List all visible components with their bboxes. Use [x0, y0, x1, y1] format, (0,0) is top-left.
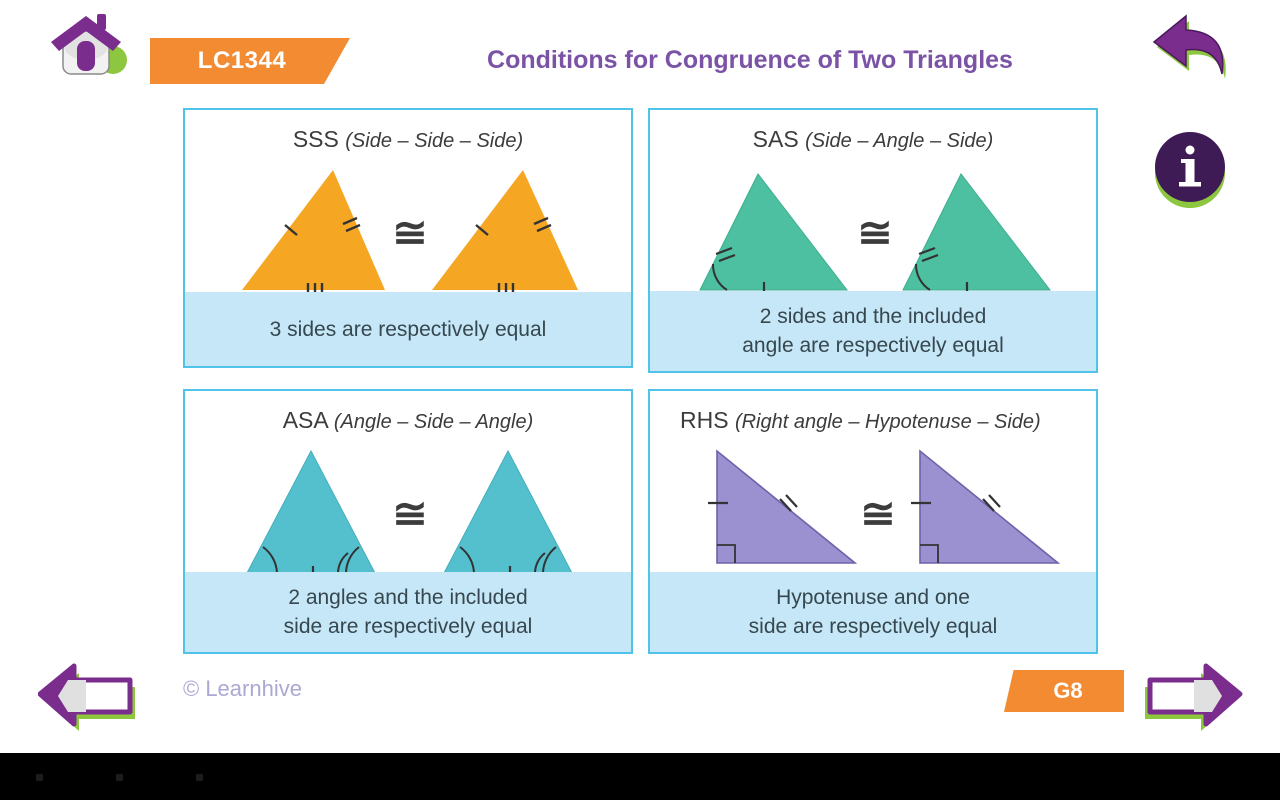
card-caption-asa: 2 angles and the included side are respe… — [185, 572, 631, 652]
card-title-rhs: RHS (Right angle – Hypotenuse – Side) — [650, 407, 1126, 434]
grade-label: G8 — [1053, 678, 1082, 704]
nav-back-icon[interactable] — [36, 774, 43, 781]
home-icon — [45, 12, 135, 82]
triangle-left-asa — [247, 451, 375, 581]
lesson-code-label: LC1344 — [198, 47, 286, 75]
congruence-card-rhs: RHS (Right angle – Hypotenuse – Side) ≅ … — [648, 389, 1098, 654]
figure-asa: ≅ — [185, 433, 631, 588]
page-title: Conditions for Congruence of Two Triangl… — [430, 46, 1070, 75]
nav-recent-icon[interactable] — [196, 774, 203, 781]
caption-line-1: Hypotenuse and one side are respectively… — [749, 583, 998, 641]
triangle-pair-sas: ≅ — [650, 152, 1100, 302]
congruence-symbol: ≅ — [857, 211, 892, 257]
congruence-card-sss: SSS (Side – Side – Side) ≅ — [183, 108, 633, 368]
figure-rhs: ≅ — [650, 433, 1096, 588]
card-expansion: (Right angle – Hypotenuse – Side) — [735, 411, 1041, 433]
card-expansion: (Angle – Side – Angle) — [334, 411, 533, 433]
congruence-card-sas: SAS (Side – Angle – Side) ≅ 2 sides and … — [648, 108, 1098, 373]
card-abbr: RHS — [680, 407, 729, 433]
previous-page-button[interactable] — [38, 662, 146, 740]
congruence-symbol: ≅ — [392, 492, 427, 538]
back-button[interactable] — [1142, 8, 1238, 90]
triangle-right-sas — [903, 174, 1050, 298]
triangle-left-rhs — [708, 451, 855, 563]
previous-arrow-icon — [38, 662, 146, 740]
caption-line-1: 2 angles and the included side are respe… — [284, 583, 533, 641]
info-button[interactable] — [1150, 128, 1230, 210]
copyright-text: © Learnhive — [183, 676, 302, 702]
triangle-pair-asa: ≅ — [185, 433, 635, 583]
grade-badge: G8 — [1004, 670, 1124, 712]
triangle-pair-sss: ≅ — [185, 152, 635, 302]
triangle-right-sss — [432, 170, 578, 298]
triangle-left-sas — [700, 174, 847, 298]
lesson-code-badge: LC1344 — [150, 38, 350, 84]
congruence-card-asa: ASA (Angle – Side – Angle) ≅ 2 angles an… — [183, 389, 633, 654]
info-icon — [1150, 128, 1230, 210]
card-title-sas: SAS (Side – Angle – Side) — [650, 126, 1096, 153]
triangle-right-asa — [444, 451, 572, 581]
card-expansion: (Side – Side – Side) — [345, 130, 523, 152]
card-abbr: SAS — [753, 126, 799, 152]
figure-sss: ≅ — [185, 152, 631, 307]
card-expansion: (Side – Angle – Side) — [805, 130, 993, 152]
congruence-symbol: ≅ — [392, 211, 427, 257]
card-abbr: ASA — [283, 407, 328, 433]
card-caption-rhs: Hypotenuse and one side are respectively… — [650, 572, 1096, 652]
triangle-right-rhs — [911, 451, 1058, 563]
card-title-sss: SSS (Side – Side – Side) — [185, 126, 631, 153]
card-caption-sas: 2 sides and the included angle are respe… — [650, 291, 1096, 371]
android-navigation-bar — [0, 753, 1280, 800]
figure-sas: ≅ — [650, 152, 1096, 307]
triangle-pair-rhs: ≅ — [650, 433, 1100, 583]
nav-home-icon[interactable] — [116, 774, 123, 781]
triangle-left-sss — [242, 170, 385, 298]
congruence-symbol: ≅ — [860, 492, 895, 538]
card-abbr: SSS — [293, 126, 339, 152]
next-arrow-icon — [1134, 662, 1244, 740]
caption-line-1: 2 sides and the included angle are respe… — [742, 302, 1004, 360]
next-page-button[interactable] — [1134, 662, 1244, 740]
back-arrow-icon — [1142, 8, 1238, 90]
card-title-asa: ASA (Angle – Side – Angle) — [185, 407, 631, 434]
card-caption-sss: 3 sides are respectively equal — [185, 292, 631, 366]
page-header: LC1344 Conditions for Congruence of Two … — [0, 0, 1280, 100]
home-button[interactable] — [45, 12, 135, 82]
